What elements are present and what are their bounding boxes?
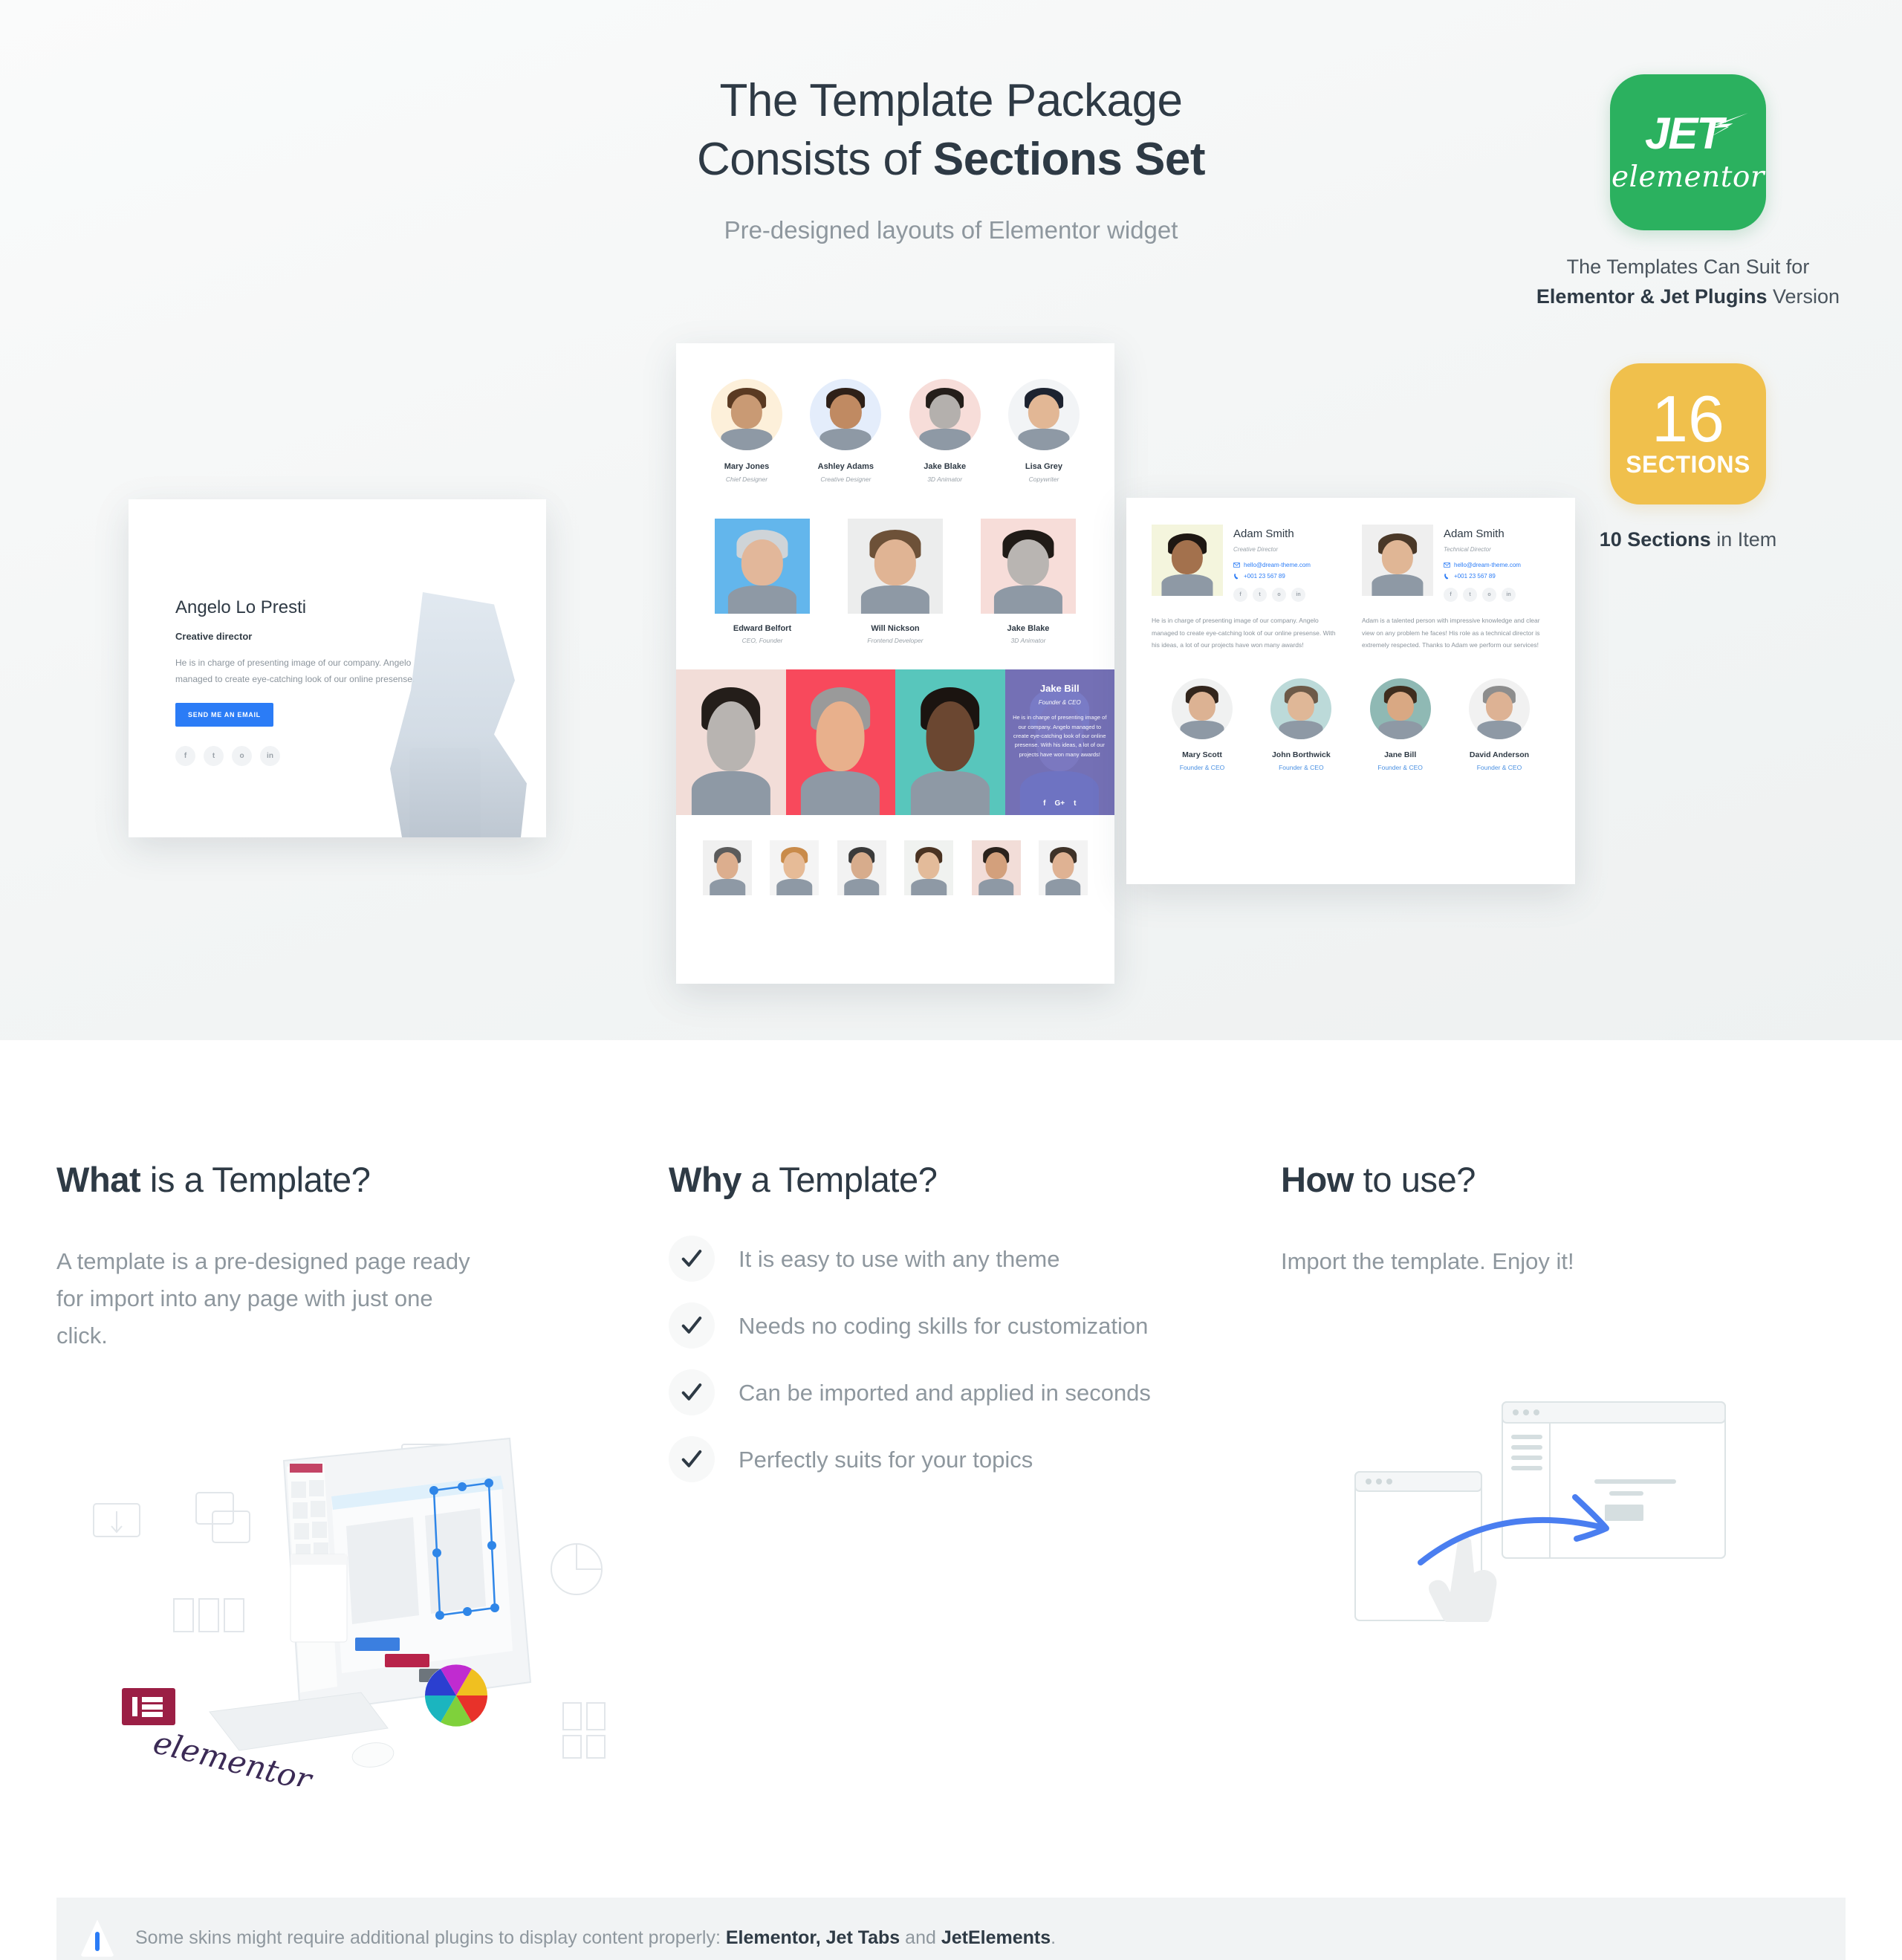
list-item: Perfectly suits for your topics [669, 1436, 1281, 1482]
list-item: Needs no coding skills for customization [669, 1302, 1281, 1349]
center-thumb-row [676, 815, 1114, 895]
member-name: Edward Belfort [715, 624, 810, 633]
member-name: Mary Jones [707, 462, 786, 471]
member-name: John Borthwick [1256, 750, 1346, 759]
grid-photo [895, 669, 1005, 815]
social-links: f t o in [1233, 588, 1311, 602]
why-heading: Why a Template? [669, 1159, 1281, 1200]
member-role: CEO, Founder [715, 637, 810, 644]
avatar [1370, 678, 1431, 739]
team-member: Ashley Adams Creative Designer [806, 379, 885, 483]
team-member: David Anderson Founder & CEO [1455, 678, 1544, 771]
what-paragraph: A template is a pre-designed page ready … [56, 1243, 473, 1355]
member-name: Will Nickson [848, 624, 943, 633]
sections-count-number: 16 [1652, 389, 1724, 450]
member-name: David Anderson [1455, 750, 1544, 759]
list-item-label: Perfectly suits for your topics [739, 1436, 1155, 1477]
jet-elementor-logo: JET elementor [1610, 74, 1766, 230]
jet-logo-text: JET [1645, 111, 1722, 156]
hero-section: The Template Package Consists of Section… [0, 0, 1902, 1040]
email-row[interactable]: hello@dream-theme.com [1444, 562, 1521, 568]
member-role: Creative Director [1233, 546, 1311, 553]
phone-icon [1444, 573, 1450, 580]
list-item-label: Needs no coding skills for customization [739, 1302, 1155, 1343]
why-checklist: It is easy to use with any theme Needs n… [669, 1236, 1281, 1482]
member-role: 3D Animator [981, 637, 1076, 644]
member-name: Jake Blake [906, 462, 984, 471]
member-description: He is in charge of presenting image of o… [1152, 614, 1340, 652]
avatar [1270, 678, 1331, 739]
google-plus-icon[interactable]: G+ [1054, 799, 1065, 808]
facebook-icon[interactable]: f [1233, 588, 1247, 602]
center-photo-grid: Jake Bill Founder & CEO He is in charge … [676, 669, 1114, 815]
twitter-icon[interactable]: t [1253, 588, 1267, 602]
avatar [1008, 379, 1080, 450]
member-name: Lisa Grey [1004, 462, 1083, 471]
phone-row[interactable]: +001 23 567 89 [1444, 573, 1521, 580]
center-square-row: Edward Belfort CEO, Founder Will Nickson… [698, 519, 1092, 644]
member-photo [1362, 525, 1433, 596]
check-icon [669, 1302, 715, 1349]
thumbnail [1039, 840, 1088, 895]
how-heading: How to use? [1281, 1159, 1846, 1200]
envelope-icon [1233, 562, 1240, 568]
team-member: Edward Belfort CEO, Founder [715, 519, 810, 644]
import-template-illustration [1325, 1369, 1742, 1622]
twitter-icon[interactable]: t [1463, 588, 1477, 602]
team-member: Will Nickson Frontend Developer [848, 519, 943, 644]
instagram-icon[interactable]: o [232, 746, 252, 766]
instagram-icon[interactable]: o [1482, 588, 1496, 602]
member-role: Frontend Developer [848, 637, 943, 644]
right-bottom-row: Mary Scott Founder & CEO John Borthwick … [1152, 678, 1550, 771]
facebook-icon[interactable]: f [175, 746, 195, 766]
jet-logo-elementor-text: elementor [1611, 160, 1765, 194]
team-member: Adam Smith Technical Director hello@drea… [1362, 525, 1550, 652]
warning-icon [80, 1920, 114, 1957]
member-role: Creative Designer [806, 476, 885, 483]
linkedin-icon[interactable]: in [1291, 588, 1305, 602]
team-member: Mary Scott Founder & CEO [1158, 678, 1247, 771]
avatar [711, 379, 782, 450]
hero-right-rail: JET elementor The Templates Can Suit for… [1532, 74, 1844, 551]
check-icon [669, 1436, 715, 1482]
notice-text: Some skins might require additional plug… [135, 1927, 1056, 1949]
send-email-button[interactable]: SEND ME AN EMAIL [175, 703, 273, 727]
member-name: Adam Smith [1444, 528, 1521, 540]
thumbnail [837, 840, 886, 895]
team-member: Adam Smith Creative Director hello@dream… [1152, 525, 1340, 652]
linkedin-icon[interactable]: in [260, 746, 280, 766]
member-description: He is in charge of presenting image of o… [175, 655, 428, 687]
thumbnail [904, 840, 953, 895]
how-paragraph: Import the template. Enjoy it! [1281, 1243, 1846, 1280]
list-item-label: It is easy to use with any theme [739, 1236, 1155, 1276]
grid-photo-with-overlay: Jake Bill Founder & CEO He is in charge … [1005, 669, 1115, 815]
facebook-icon[interactable]: f [1043, 799, 1045, 808]
member-name: Jake Blake [981, 624, 1076, 633]
hero-title-line1: The Template Package [719, 75, 1182, 126]
team-member: John Borthwick Founder & CEO [1256, 678, 1346, 771]
suit-line-1: The Templates Can Suit for [1532, 256, 1844, 279]
member-role: Technical Director [1444, 546, 1521, 553]
list-item: It is easy to use with any theme [669, 1236, 1281, 1282]
twitter-icon[interactable]: t [1074, 799, 1076, 808]
suit-line-2: Elementor & Jet Plugins Version [1532, 285, 1844, 308]
column-what: What is a Template? A template is a pre-… [56, 1159, 669, 1786]
column-why: Why a Template? It is easy to use with a… [669, 1159, 1281, 1786]
info-section: What is a Template? A template is a pre-… [0, 1040, 1902, 1786]
landing-page: The Template Package Consists of Section… [0, 0, 1902, 1960]
member-role: Founder & CEO [1256, 764, 1346, 771]
column-how: How to use? Import the template. Enjoy i… [1281, 1159, 1846, 1786]
list-item: Can be imported and applied in seconds [669, 1369, 1281, 1415]
what-heading: What is a Template? [56, 1159, 669, 1200]
mockup-card-left: Angelo Lo Presti Creative director He is… [129, 499, 546, 837]
member-name: Jane Bill [1356, 750, 1445, 759]
member-role: Copywriter [1004, 476, 1083, 483]
member-photo [1152, 525, 1223, 596]
member-role: Chief Designer [707, 476, 786, 483]
member-name: Angelo Lo Presti [175, 597, 463, 618]
email-row[interactable]: hello@dream-theme.com [1233, 562, 1311, 568]
member-photo [715, 519, 810, 614]
envelope-icon [1444, 562, 1450, 568]
avatar [1172, 678, 1233, 739]
grid-photo [676, 669, 786, 815]
social-links: f t o in [1444, 588, 1521, 602]
sections-in-item-caption: 10 Sections in Item [1532, 528, 1844, 551]
team-member: Jake Blake 3D Animator [906, 379, 984, 483]
member-name: Ashley Adams [806, 462, 885, 471]
team-member: Jane Bill Founder & CEO [1356, 678, 1445, 771]
member-role: Founder & CEO [1356, 764, 1445, 771]
overlay-socials: f G+ t [1005, 799, 1115, 808]
list-item-label: Can be imported and applied in seconds [739, 1369, 1155, 1410]
hero-title-line2-bold: Sections Set [933, 134, 1205, 185]
phone-icon [1233, 573, 1240, 580]
instagram-icon[interactable]: o [1272, 588, 1286, 602]
sections-count-label: SECTIONS [1626, 451, 1750, 478]
member-name: Adam Smith [1233, 528, 1311, 540]
grid-photo [786, 669, 896, 815]
overlay-desc: He is in charge of presenting image of o… [1013, 713, 1108, 759]
plugin-notice-bar: Some skins might require additional plug… [56, 1898, 1846, 1960]
member-name: Mary Scott [1158, 750, 1247, 759]
member-photo [981, 519, 1076, 614]
member-role: 3D Animator [906, 476, 984, 483]
avatar [1469, 678, 1530, 739]
check-icon [669, 1236, 715, 1282]
avatar [810, 379, 881, 450]
avatar [909, 379, 981, 450]
sections-count-badge: 16 SECTIONS [1610, 363, 1766, 504]
member-role: Founder & CEO [1455, 764, 1544, 771]
thumbnail [770, 840, 819, 895]
center-avatar-row: Mary Jones Chief Designer Ashley Adams C… [698, 379, 1092, 483]
phone-row[interactable]: +001 23 567 89 [1233, 573, 1311, 580]
member-photo [848, 519, 943, 614]
thumbnail [972, 840, 1021, 895]
twitter-icon[interactable]: t [204, 746, 224, 766]
team-member: Mary Jones Chief Designer [707, 379, 786, 483]
team-member: Lisa Grey Copywriter [1004, 379, 1083, 483]
facebook-icon[interactable]: f [1444, 588, 1458, 602]
hero-title-line2-prefix: Consists of [697, 134, 933, 185]
overlay-name: Jake Bill [1013, 683, 1108, 695]
team-member: Jake Blake 3D Animator [981, 519, 1076, 644]
mockup-card-right: Adam Smith Creative Director hello@dream… [1126, 498, 1575, 884]
elementor-workstation-illustration: elementor [64, 1392, 629, 1786]
thumbnail [703, 840, 752, 895]
grid-overlay: Jake Bill Founder & CEO He is in charge … [1005, 669, 1115, 815]
linkedin-icon[interactable]: in [1502, 588, 1516, 602]
check-icon [669, 1369, 715, 1415]
member-description: Adam is a talented person with impressiv… [1362, 614, 1550, 652]
mockup-card-center: Mary Jones Chief Designer Ashley Adams C… [676, 343, 1114, 984]
overlay-role: Founder & CEO [1013, 699, 1108, 706]
member-role: Founder & CEO [1158, 764, 1247, 771]
